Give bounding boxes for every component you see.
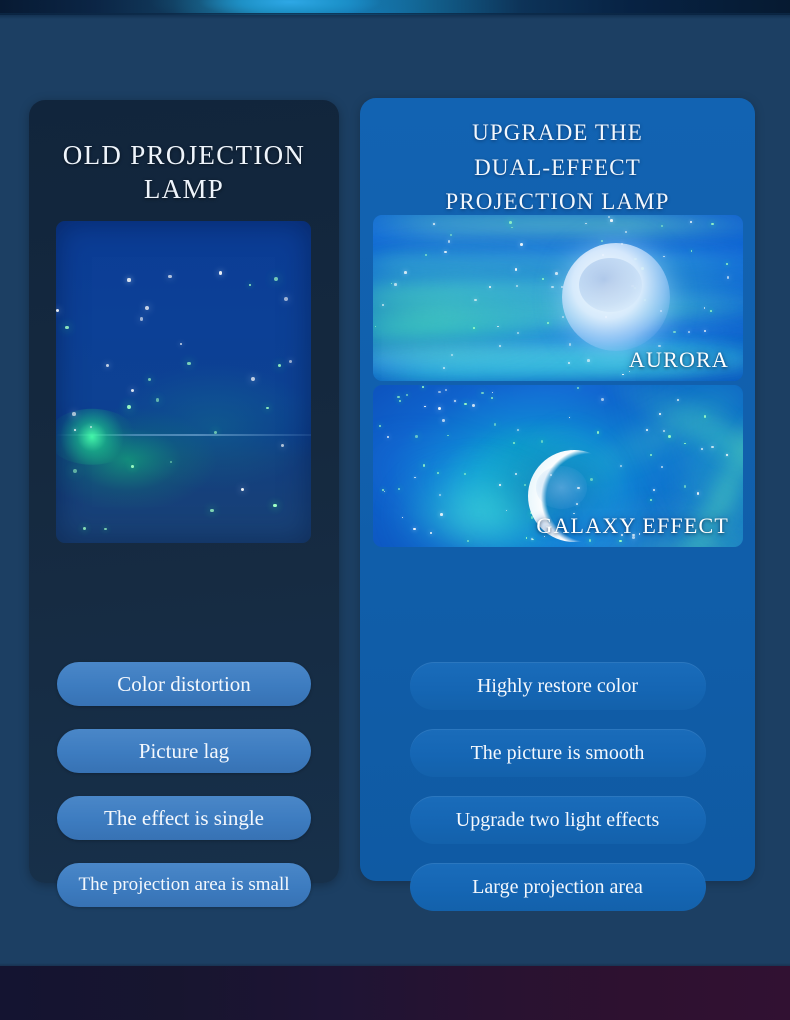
star-dot	[424, 406, 425, 407]
star-dot	[520, 243, 523, 246]
star-dot	[499, 484, 501, 486]
star-dot	[551, 286, 554, 289]
star-dot	[74, 429, 76, 431]
star-dot	[506, 510, 508, 512]
star-dot	[688, 331, 690, 333]
star-dot	[438, 391, 441, 394]
moon-surface-shading	[579, 258, 642, 312]
star-dot	[127, 405, 131, 409]
star-dot	[526, 537, 528, 539]
star-dot	[104, 528, 107, 531]
star-dot	[180, 343, 183, 346]
star-dot	[589, 539, 591, 541]
star-dot	[492, 392, 494, 394]
star-dot	[663, 256, 665, 258]
star-dot	[597, 431, 599, 433]
star-dot	[273, 504, 276, 507]
galaxy-label: GALAXY EFFECT	[536, 513, 729, 539]
star-dot	[474, 299, 476, 301]
star-dot	[697, 492, 699, 494]
new-feature-list: Highly restore color The picture is smoo…	[360, 662, 755, 930]
star-dot	[423, 464, 426, 467]
star-dot	[445, 389, 448, 392]
star-dot	[382, 304, 384, 306]
nebula-core	[536, 466, 588, 508]
star-dot	[489, 286, 491, 288]
star-dot	[601, 398, 604, 401]
star-dot	[406, 394, 408, 396]
star-dot	[711, 446, 714, 449]
star-dot	[72, 412, 76, 416]
star-dot	[562, 316, 564, 318]
star-dot	[568, 362, 570, 364]
old-lamp-card: OLD PROJECTION LAMP Color distortion Pic…	[29, 100, 339, 883]
star-dot	[569, 417, 570, 418]
star-dot	[619, 540, 621, 542]
full-moon	[562, 243, 670, 351]
old-feature-item: Picture lag	[57, 729, 311, 773]
star-dot	[148, 378, 151, 381]
star-dot	[601, 240, 604, 243]
star-dot	[168, 275, 172, 279]
star-dot	[650, 454, 653, 457]
star-dot	[433, 223, 435, 225]
star-dot	[608, 216, 610, 218]
star-dot	[625, 231, 627, 233]
star-dot	[289, 360, 292, 363]
star-dot	[524, 484, 526, 486]
star-dot	[384, 491, 386, 493]
star-dot	[661, 466, 663, 468]
star-dot	[467, 540, 469, 542]
star-dot	[690, 221, 692, 223]
star-dot	[513, 442, 515, 444]
star-dot	[585, 223, 587, 225]
star-dot	[278, 364, 281, 367]
star-dot	[653, 489, 655, 491]
star-dot	[266, 407, 269, 410]
star-dot	[106, 364, 109, 367]
star-dot	[710, 310, 712, 312]
star-dot	[450, 234, 452, 236]
star-dot	[555, 272, 558, 275]
star-dot	[131, 389, 134, 392]
star-dot	[448, 240, 450, 242]
star-dot	[214, 431, 217, 434]
star-dot	[684, 443, 686, 445]
star-dot	[399, 400, 401, 402]
star-dot	[499, 345, 501, 347]
star-dot	[727, 276, 730, 279]
star-dot	[684, 485, 687, 488]
star-dot	[447, 435, 449, 437]
old-feature-list: Color distortion Picture lag The effect …	[29, 662, 339, 930]
star-dot	[517, 332, 519, 334]
bottom-decorative-strip	[0, 966, 790, 1020]
old-lamp-title: OLD PROJECTION LAMP	[29, 100, 339, 206]
star-dot	[379, 425, 381, 427]
star-dot	[547, 322, 549, 324]
star-dot	[439, 494, 441, 496]
star-dot	[251, 377, 255, 381]
star-dot	[481, 392, 484, 395]
star-dot	[387, 436, 390, 439]
star-dot	[398, 488, 400, 490]
star-dot	[472, 404, 475, 407]
star-dot	[425, 254, 427, 256]
star-dot	[127, 278, 130, 281]
title-line-3: PROJECTION LAMP	[445, 189, 669, 214]
star-dot	[281, 444, 284, 447]
star-dot	[83, 527, 86, 530]
new-feature-item: Highly restore color	[410, 662, 706, 710]
star-dot	[444, 251, 447, 254]
title-line-2: DUAL-EFFECT	[474, 155, 641, 180]
star-dot	[145, 306, 149, 310]
new-feature-item: Upgrade two light effects	[410, 796, 706, 844]
star-dot	[187, 362, 190, 365]
star-dot	[531, 538, 533, 540]
star-dot	[438, 407, 441, 410]
star-dot	[73, 469, 77, 473]
star-dot	[497, 326, 499, 328]
old-projection-image	[56, 221, 311, 543]
star-dot	[668, 435, 671, 438]
star-dot	[415, 435, 418, 438]
star-dot	[210, 509, 213, 512]
star-dot	[464, 403, 467, 406]
star-dot	[241, 488, 245, 492]
star-dot	[391, 283, 393, 285]
star-dot	[402, 517, 403, 518]
star-dot	[511, 227, 513, 229]
star-dot	[622, 374, 624, 376]
star-dot	[646, 429, 648, 431]
star-dot	[650, 499, 652, 501]
star-dot	[659, 413, 661, 415]
star-dot	[249, 284, 251, 286]
star-dot	[711, 223, 713, 225]
star-dot	[509, 221, 512, 224]
star-dot	[394, 283, 397, 286]
star-dot	[491, 397, 493, 399]
comparison-cards: OLD PROJECTION LAMP Color distortion Pic…	[0, 0, 790, 1020]
aurora-projection-image: AURORA	[373, 215, 743, 381]
product-comparison-page: OLD PROJECTION LAMP Color distortion Pic…	[0, 0, 790, 1020]
star-dot	[414, 477, 416, 479]
old-feature-item: Color distortion	[57, 662, 311, 706]
star-dot	[284, 297, 288, 301]
star-dot	[65, 326, 69, 330]
star-dot	[726, 263, 728, 265]
star-dot	[437, 472, 439, 474]
new-feature-item: Large projection area	[410, 863, 706, 911]
old-feature-item: The projection area is small	[57, 863, 311, 907]
star-dot	[219, 271, 222, 274]
star-dot	[569, 343, 571, 345]
star-dot	[587, 359, 590, 362]
star-dot	[541, 440, 543, 442]
star-dot	[610, 219, 613, 222]
star-dot	[677, 399, 679, 401]
star-dot	[620, 465, 622, 467]
upgraded-lamp-card: UPGRADE THE DUAL-EFFECT PROJECTION LAMP …	[360, 98, 755, 881]
star-dot	[663, 430, 665, 432]
upgraded-lamp-title: UPGRADE THE DUAL-EFFECT PROJECTION LAMP	[360, 98, 755, 220]
star-dot	[661, 225, 663, 227]
star-dot	[274, 277, 278, 281]
star-dot	[397, 396, 399, 398]
star-dot	[443, 367, 445, 369]
new-feature-item: The picture is smooth	[410, 729, 706, 777]
star-dot	[430, 532, 433, 535]
aurora-label: AURORA	[629, 347, 729, 373]
star-dot	[170, 461, 173, 464]
star-dot	[451, 354, 453, 356]
star-dot	[56, 309, 59, 312]
star-dot	[515, 268, 518, 271]
star-dot	[517, 429, 519, 431]
old-feature-item: The effect is single	[57, 796, 311, 840]
star-dot	[704, 330, 706, 332]
star-dot	[704, 307, 706, 309]
star-dot	[464, 473, 466, 475]
starfield-dots	[56, 221, 311, 543]
star-dot	[701, 448, 703, 450]
star-dot	[90, 426, 92, 428]
star-dot	[542, 278, 544, 280]
star-dot	[404, 271, 407, 274]
star-dot	[691, 250, 692, 251]
star-dot	[131, 465, 134, 468]
star-dot	[440, 513, 443, 516]
star-dot	[515, 473, 517, 475]
star-dot	[156, 398, 159, 401]
star-dot	[704, 415, 707, 418]
star-dot	[413, 528, 415, 530]
star-dot	[442, 419, 445, 422]
star-dot	[473, 327, 475, 329]
star-dot	[422, 386, 424, 388]
star-dot	[454, 400, 455, 401]
title-line-1: UPGRADE THE	[472, 120, 643, 145]
star-dot	[494, 423, 497, 426]
star-dot	[726, 454, 727, 455]
star-dot	[577, 387, 579, 389]
star-dot	[516, 285, 518, 287]
star-dot	[375, 326, 377, 328]
star-dot	[673, 331, 676, 334]
galaxy-projection-image: GALAXY EFFECT	[373, 385, 743, 547]
star-dot	[140, 317, 144, 321]
